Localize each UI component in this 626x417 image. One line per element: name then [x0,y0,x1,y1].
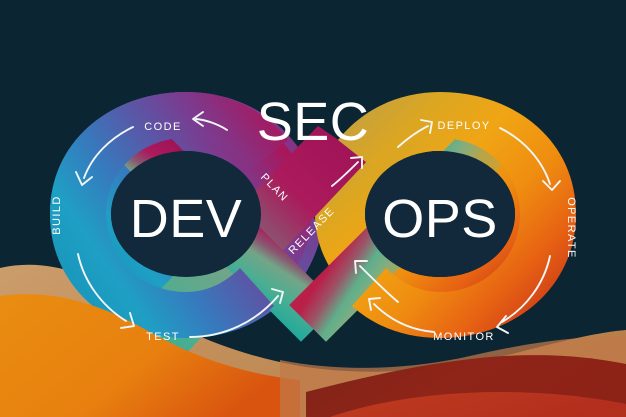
stage-label-build: BUILD [51,195,63,234]
stage-label-code: CODE [144,121,181,133]
stage-label-test: TEST [146,331,180,343]
diagram-canvas: DEV OPS SEC CODE BUILD TEST DEPLOY OPERA… [0,0,626,417]
stage-label-deploy: DEPLOY [437,120,490,132]
stage-label-operate: OPERATE [565,197,577,259]
ops-title: OPS [382,189,498,249]
stage-label-monitor: MONITOR [433,331,495,343]
dev-title: DEV [130,189,243,249]
sec-title: SEC [257,92,370,152]
devsecops-infinity-diagram: DEV OPS SEC CODE BUILD TEST DEPLOY OPERA… [0,0,626,417]
